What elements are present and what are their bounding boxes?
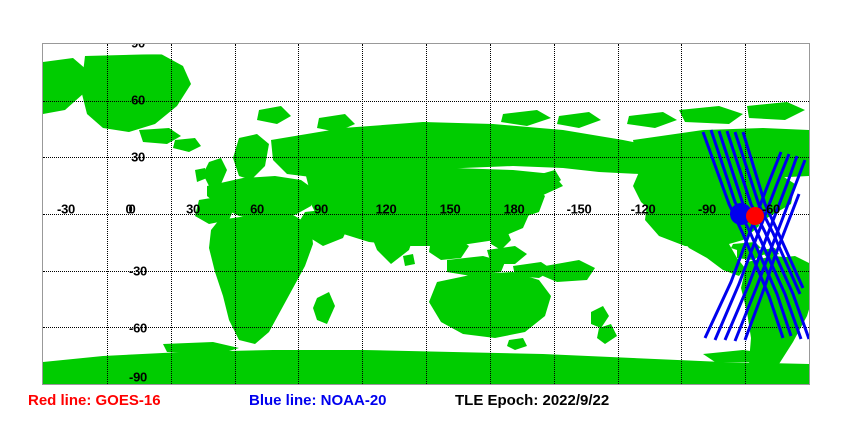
lon-tick-label: 30	[186, 202, 200, 217]
satellite-ground-track-map: -30 0 30 60 90 120 150 180 -150 -120 -90…	[0, 0, 850, 425]
lon-tick-label: -30	[57, 202, 75, 217]
legend-noaa20: Blue line: NOAA-20	[249, 392, 387, 409]
lat-tick-label: 60	[131, 93, 145, 108]
noaa20-ground-tracks	[43, 44, 809, 384]
lon-tick-label: -60	[762, 202, 780, 217]
lat-tick-label: 90	[131, 44, 145, 51]
lat-tick-label: -30	[129, 264, 147, 279]
lon-tick-label: 180	[504, 202, 525, 217]
lat-tick-label: 0	[129, 202, 136, 217]
lon-tick-label: 90	[314, 202, 328, 217]
legend-goes16: Red line: GOES-16	[28, 392, 161, 409]
map-canvas: -30 0 30 60 90 120 150 180 -150 -120 -90…	[43, 44, 809, 384]
ground-track-layer	[43, 44, 809, 384]
lat-tick-label: -60	[129, 321, 147, 336]
lon-tick-label: -150	[567, 202, 592, 217]
legend-bar: Red line: GOES-16 Blue line: NOAA-20 TLE…	[0, 392, 850, 420]
map-frame: -30 0 30 60 90 120 150 180 -150 -120 -90…	[42, 43, 810, 385]
lon-tick-label: 60	[250, 202, 264, 217]
lon-tick-label: 150	[440, 202, 461, 217]
lat-tick-label: 30	[131, 150, 145, 165]
legend-tle-epoch: TLE Epoch: 2022/9/22	[455, 392, 609, 409]
lon-tick-label: -90	[698, 202, 716, 217]
lon-tick-label: -120	[631, 202, 656, 217]
lat-tick-label: -90	[129, 370, 147, 385]
lon-tick-label: 120	[376, 202, 397, 217]
